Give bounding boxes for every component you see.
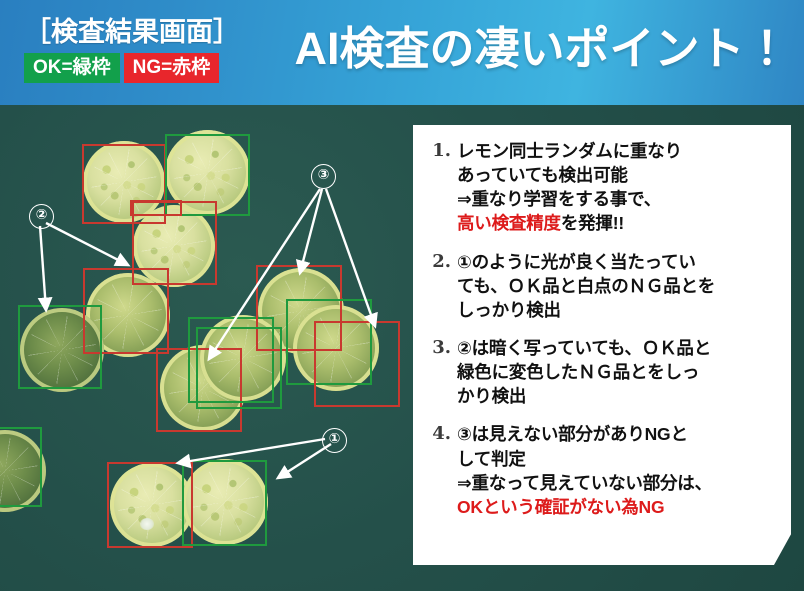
highlight-text: 高い検査精度	[457, 213, 561, 233]
point-line: ても、ＯＫ品と白点のＮＧ品とを	[457, 274, 779, 298]
plain-text: ⇒重なって見えていない部分は、	[457, 473, 712, 493]
highlight-text: OKという確証がない為NG	[457, 497, 664, 517]
point-item: 2.①のように光が良く当たっていても、ＯＫ品と白点のＮＧ品とをしっかり検出	[425, 250, 779, 322]
point-number: 2.	[425, 250, 457, 322]
points-list: 1.レモン同士ランダムに重なりあっていても検出可能⇒重なり学習をする事で、高い検…	[425, 139, 779, 519]
callout-3: ③	[311, 164, 336, 189]
point-line: ②は暗く写っていても、ＯＫ品と	[457, 336, 779, 360]
page-title: AI検査の凄いポイント！	[292, 26, 792, 71]
plain-text: ②は暗く写っていても、ＯＫ品と	[457, 338, 711, 358]
point-text: ③は見えない部分がありNGとして判定⇒重なって見えていない部分は、OKという確証…	[457, 422, 779, 519]
plain-text: かり検出	[457, 386, 526, 406]
plain-text: レモン同士ランダムに重なり	[457, 141, 682, 161]
point-line: OKという確証がない為NG	[457, 495, 779, 519]
point-line: かり検出	[457, 384, 779, 408]
point-line: ①のように光が良く当たってい	[457, 250, 779, 274]
point-item: 1.レモン同士ランダムに重なりあっていても検出可能⇒重なり学習をする事で、高い検…	[425, 139, 779, 236]
point-number: 4.	[425, 422, 457, 519]
plain-text: ①のように光が良く当たってい	[457, 252, 696, 272]
points-panel: 1.レモン同士ランダムに重なりあっていても検出可能⇒重なり学習をする事で、高い検…	[413, 125, 791, 565]
point-line: 緑色に変色したＮＧ品とをしっ	[457, 360, 779, 384]
plain-text: を発揮!!	[561, 213, 624, 233]
point-line: ⇒重なり学習をする事で、	[457, 187, 779, 211]
point-line: ⇒重なって見えていない部分は、	[457, 471, 779, 495]
point-line: あっていても検出可能	[457, 163, 779, 187]
plain-text: ⇒重なり学習をする事で、	[457, 189, 661, 209]
header-left-block: ［検査結果画面］ OK=緑枠 NG=赤枠	[24, 18, 294, 83]
plain-text: あっていても検出可能	[457, 165, 628, 185]
callout-1: ①	[322, 428, 347, 453]
plain-text: しっかり検出	[457, 300, 561, 320]
point-item: 3.②は暗く写っていても、ＯＫ品と緑色に変色したＮＧ品とをしっかり検出	[425, 336, 779, 408]
ok-legend-badge: OK=緑枠	[24, 53, 120, 83]
section-label: ［検査結果画面］	[24, 18, 294, 46]
plain-text: ても、ＯＫ品と白点のＮＧ品とを	[457, 276, 715, 296]
plain-text: 緑色に変色したＮＧ品とをしっ	[457, 362, 699, 382]
header-banner: ［検査結果画面］ OK=緑枠 NG=赤枠 AI検査の凄いポイント！	[0, 0, 804, 105]
point-line: レモン同士ランダムに重なり	[457, 139, 779, 163]
callout-2: ②	[29, 204, 54, 229]
point-line: ③は見えない部分がありNGと	[457, 422, 779, 446]
point-line: して判定	[457, 447, 779, 471]
legend-badges: OK=緑枠 NG=赤枠	[24, 53, 294, 83]
point-line: しっかり検出	[457, 298, 779, 322]
point-line: 高い検査精度を発揮!!	[457, 211, 779, 235]
point-number: 1.	[425, 139, 457, 236]
plain-text: ③は見えない部分がありNGと	[457, 424, 688, 444]
slide-root: ［検査結果画面］ OK=緑枠 NG=赤枠 AI検査の凄いポイント！	[0, 0, 804, 591]
point-item: 4.③は見えない部分がありNGとして判定⇒重なって見えていない部分は、OKという…	[425, 422, 779, 519]
point-text: レモン同士ランダムに重なりあっていても検出可能⇒重なり学習をする事で、高い検査精…	[457, 139, 779, 236]
ng-legend-badge: NG=赤枠	[124, 53, 220, 83]
point-number: 3.	[425, 336, 457, 408]
point-text: ②は暗く写っていても、ＯＫ品と緑色に変色したＮＧ品とをしっかり検出	[457, 336, 779, 408]
point-text: ①のように光が良く当たっていても、ＯＫ品と白点のＮＧ品とをしっかり検出	[457, 250, 779, 322]
plain-text: して判定	[457, 449, 526, 469]
